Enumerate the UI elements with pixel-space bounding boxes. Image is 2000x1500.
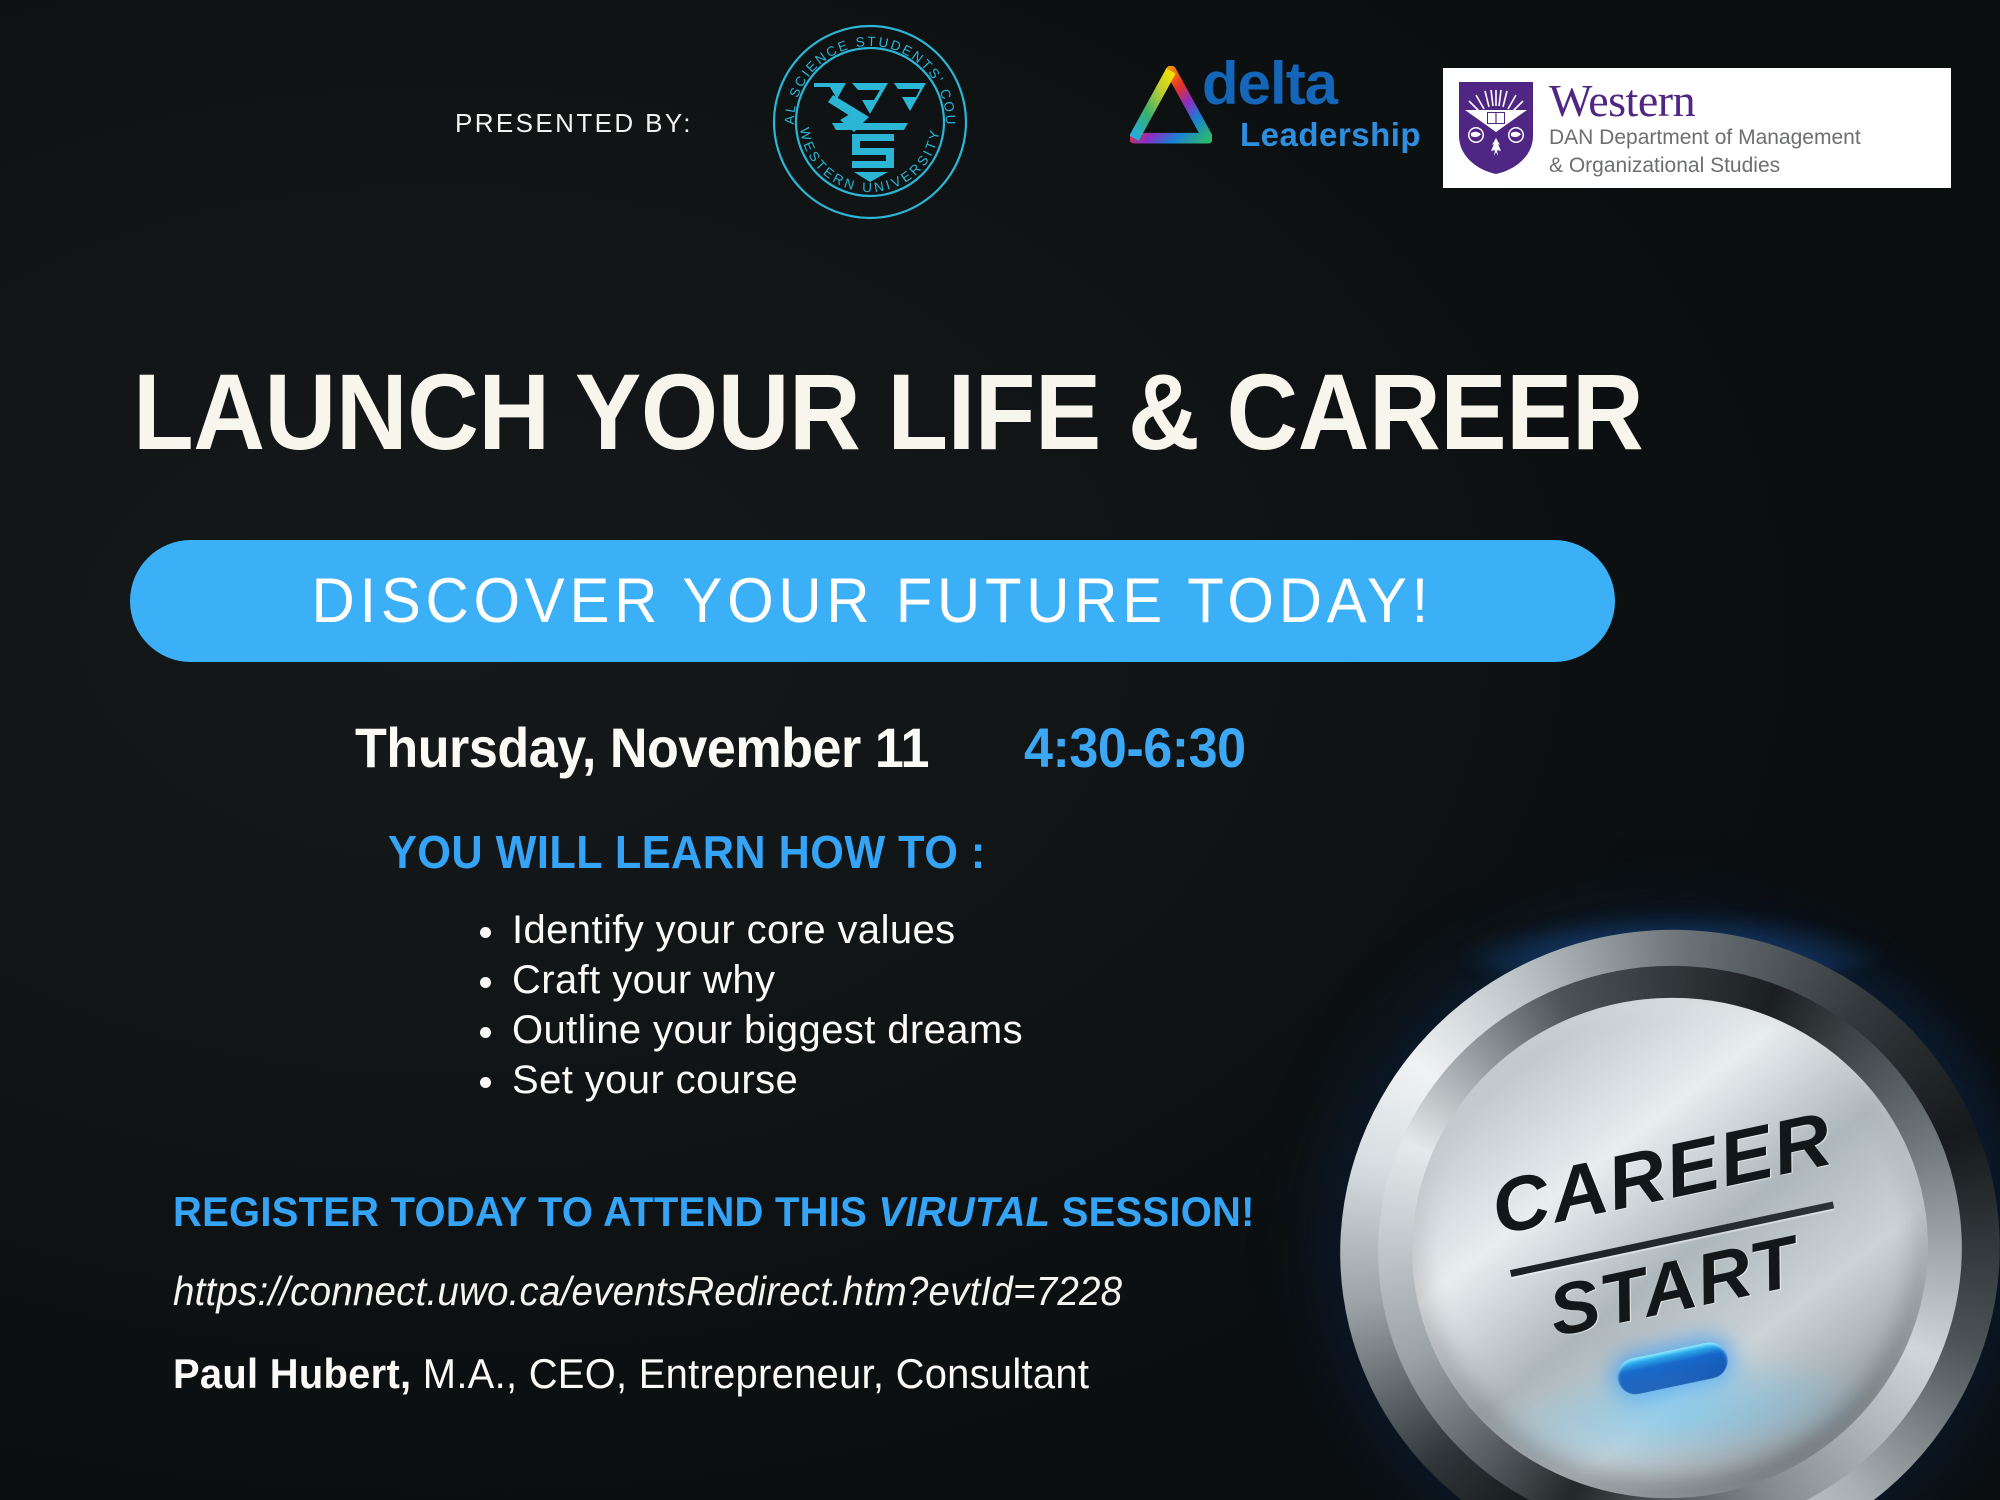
- learning-outcomes-list: Identify your core values Craft your why…: [470, 905, 1023, 1105]
- register-call-to-action: REGISTER TODAY TO ATTEND THIS VIRUTAL SE…: [173, 1188, 1255, 1236]
- subtitle-banner: DISCOVER YOUR FUTURE TODAY!: [130, 540, 1615, 662]
- speaker-credentials: M.A., CEO, Entrepreneur, Consultant: [411, 1350, 1089, 1397]
- speaker-name: Paul Hubert,: [173, 1350, 411, 1397]
- event-time: 4:30-6:30: [1024, 715, 1246, 780]
- list-item-label: Identify your core values: [512, 908, 956, 952]
- list-item: Craft your why: [470, 955, 1023, 1005]
- list-item: Outline your biggest dreams: [470, 1005, 1023, 1055]
- main-content: LAUNCH YOUR LIFE & CAREER DISCOVER YOUR …: [0, 0, 2000, 1500]
- list-item: Set your course: [470, 1055, 1023, 1105]
- list-item-label: Set your course: [512, 1058, 798, 1102]
- bullet-dot-icon: [480, 927, 491, 938]
- speaker-credit: Paul Hubert, M.A., CEO, Entrepreneur, Co…: [173, 1350, 1089, 1398]
- bullet-dot-icon: [480, 977, 491, 988]
- learning-outcomes-heading: YOU WILL LEARN HOW TO :: [388, 825, 986, 879]
- event-poster: PRESENTED BY: SOCIAL SCIENCE STUDENTS' C…: [0, 0, 2000, 1500]
- event-datetime-row: Thursday, November 11 4:30-6:30: [355, 715, 1262, 780]
- bullet-dot-icon: [480, 1077, 491, 1088]
- subtitle-text: DISCOVER YOUR FUTURE TODAY!: [312, 565, 1433, 637]
- list-item: Identify your core values: [470, 905, 1023, 955]
- register-prefix: REGISTER TODAY TO ATTEND THIS: [173, 1188, 878, 1235]
- list-item-label: Craft your why: [512, 958, 775, 1002]
- registration-url[interactable]: https://connect.uwo.ca/eventsRedirect.ht…: [173, 1268, 1122, 1315]
- list-item-label: Outline your biggest dreams: [512, 1008, 1023, 1052]
- bullet-dot-icon: [480, 1027, 491, 1038]
- event-date: Thursday, November 11: [355, 715, 929, 780]
- register-emphasis: VIRUTAL: [878, 1188, 1050, 1235]
- page-title: LAUNCH YOUR LIFE & CAREER: [133, 355, 1643, 468]
- register-suffix: SESSION!: [1050, 1188, 1254, 1235]
